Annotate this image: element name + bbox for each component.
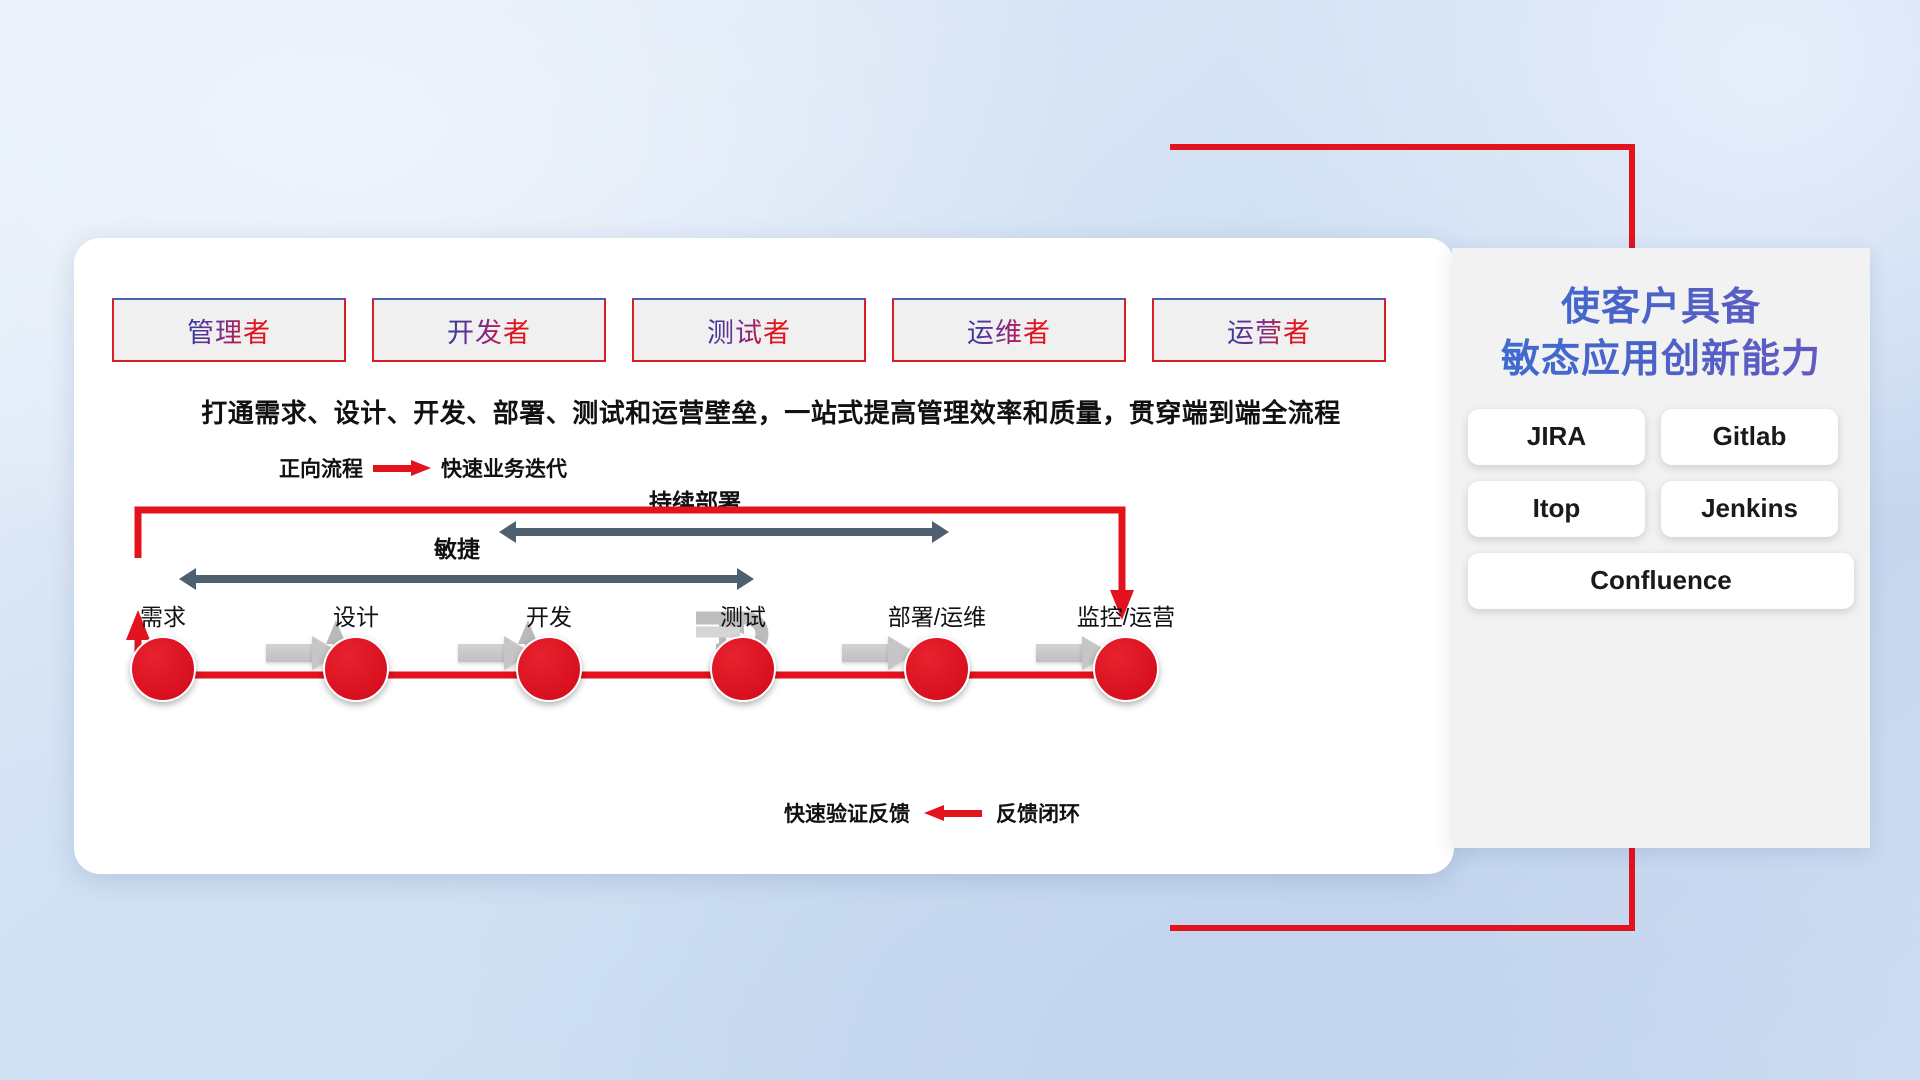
pipeline-node-dot xyxy=(710,636,776,702)
fast-validation-label: 快速验证反馈 xyxy=(784,798,910,828)
pipeline-node-dot xyxy=(323,636,389,702)
pipeline-node-monitor-operations[interactable]: 监控/运营 xyxy=(1051,598,1201,702)
panel-title-line2: 敏态应用创新能力 xyxy=(1452,334,1870,386)
pipeline-node-dot xyxy=(516,636,582,702)
tool-chip-gitlab[interactable]: Gitlab xyxy=(1661,409,1838,465)
feedback-loop-label: 反馈闭环 xyxy=(996,798,1080,828)
pipeline-node-requirement[interactable]: 需求 xyxy=(128,598,198,702)
pipeline: 需求 设计 开发 xyxy=(96,598,1436,728)
pipeline-node-development[interactable]: 开发 xyxy=(514,598,584,702)
pipeline-node-design[interactable]: 设计 xyxy=(321,598,391,702)
pipeline-node-dot xyxy=(904,636,970,702)
pipeline-node-label: 监控/运营 xyxy=(1051,598,1201,632)
pipeline-node-dot xyxy=(130,636,196,702)
tool-chip-itop[interactable]: Itop xyxy=(1468,481,1645,537)
pipeline-node-dot xyxy=(1093,636,1159,702)
panel-title-line1: 使客户具备 xyxy=(1452,282,1870,334)
double-arrow-agile-icon xyxy=(179,568,754,590)
arrow-left-red-icon xyxy=(924,805,982,821)
feedback-legend: 快速验证反馈 反馈闭环 xyxy=(784,798,1080,828)
tool-chip-jira[interactable]: JIRA xyxy=(1468,409,1645,465)
slide-canvas: 管理者 开发者 测试者 运维者 运营者 打通需求、设计、开发、部署、测试和运营壁… xyxy=(0,0,1920,1080)
tool-chip-jenkins[interactable]: Jenkins xyxy=(1661,481,1838,537)
pipeline-node-deploy-ops[interactable]: 部署/运维 xyxy=(862,598,1012,702)
pipeline-node-label: 需求 xyxy=(128,598,198,632)
main-card: 管理者 开发者 测试者 运维者 运营者 打通需求、设计、开发、部署、测试和运营壁… xyxy=(74,238,1454,874)
pipeline-node-label: 部署/运维 xyxy=(862,598,1012,632)
tool-chip-group: JIRA Gitlab Itop Jenkins Confluence xyxy=(1468,409,1854,609)
pipeline-node-testing[interactable]: 测试 xyxy=(708,598,778,702)
agile-caption: 敏捷 xyxy=(434,530,480,564)
pipeline-node-label: 开发 xyxy=(514,598,584,632)
pipeline-node-label: 测试 xyxy=(708,598,778,632)
panel-title: 使客户具备 敏态应用创新能力 xyxy=(1452,282,1870,387)
tools-panel: 使客户具备 敏态应用创新能力 JIRA Gitlab Itop Jenkins … xyxy=(1452,248,1870,848)
pipeline-node-label: 设计 xyxy=(321,598,391,632)
tool-chip-confluence[interactable]: Confluence xyxy=(1468,553,1854,609)
red-feedback-loop xyxy=(74,238,1454,874)
